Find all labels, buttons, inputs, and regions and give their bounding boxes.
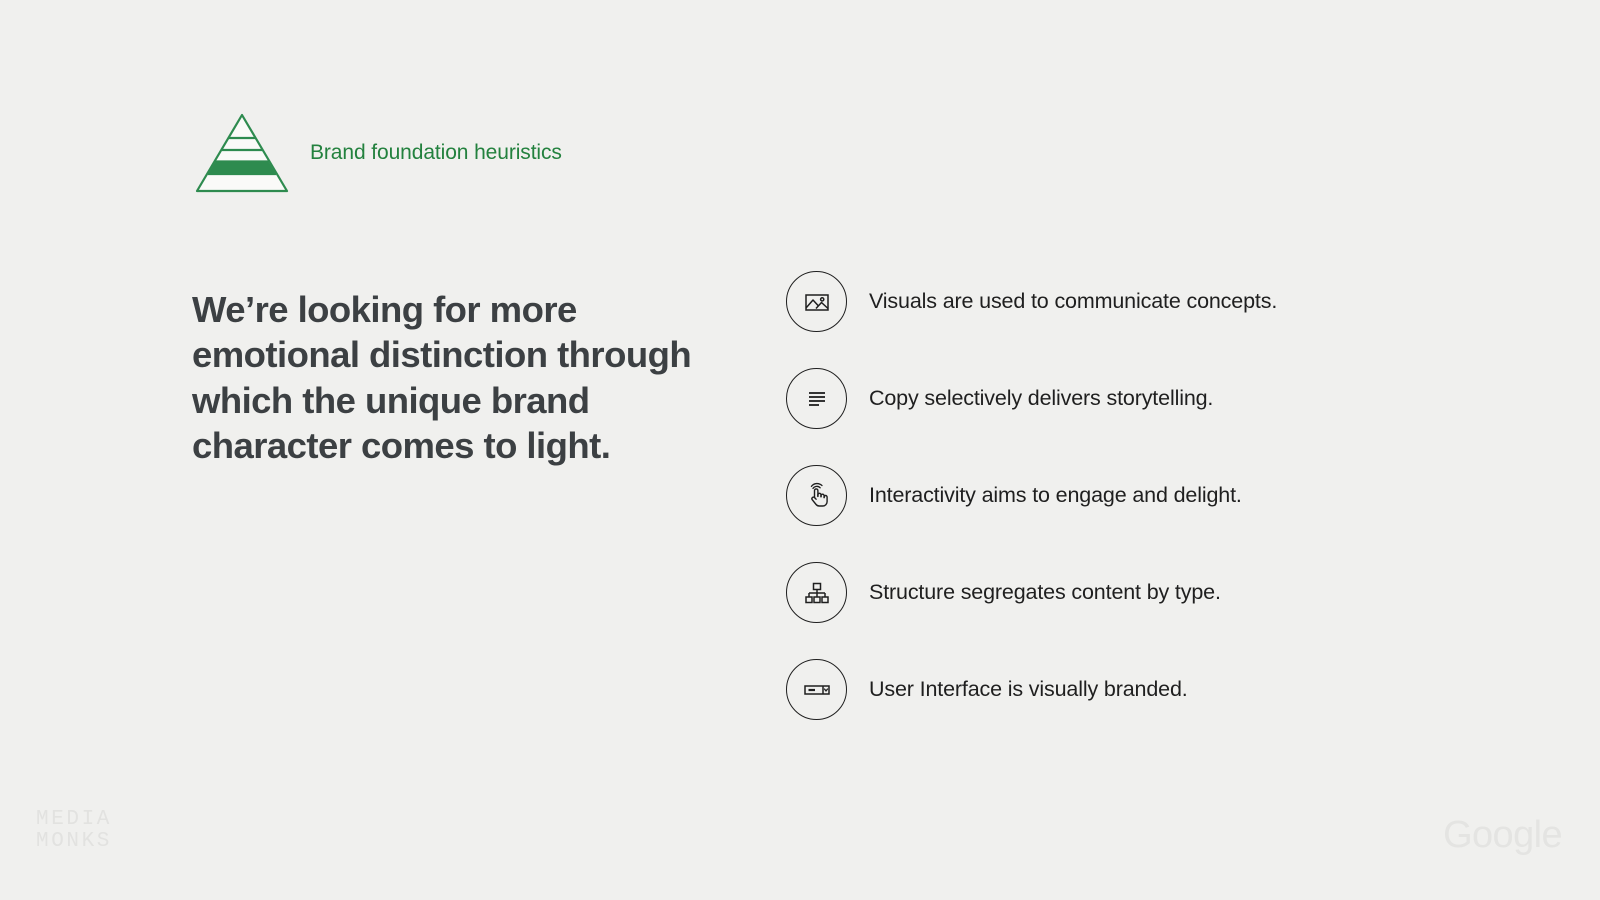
brandmark: Brand foundation heuristics [194,112,562,194]
slide-canvas: Brand foundation heuristics We’re lookin… [0,0,1600,900]
brandmark-label: Brand foundation heuristics [310,140,562,165]
list-item: Interactivity aims to engage and delight… [786,465,1277,526]
list-item-label: Interactivity aims to engage and delight… [869,482,1242,509]
list-item: Copy selectively delivers storytelling. [786,368,1277,429]
pyramid-icon [194,112,290,194]
mediamonks-logo-line1: MEDIA [36,809,112,832]
google-logo: Google [1443,816,1562,854]
page-title: We’re looking for more emotional distinc… [192,287,692,468]
sitemap-hierarchy-icon [786,562,847,623]
list-item: User Interface is visually branded. [786,659,1277,720]
list-item-label: Visuals are used to communicate concepts… [869,288,1277,315]
list-item: Structure segregates content by type. [786,562,1277,623]
tap-gesture-icon [786,465,847,526]
list-item: Visuals are used to communicate concepts… [786,271,1277,332]
list-item-label: User Interface is visually branded. [869,676,1188,703]
ui-input-dropdown-icon [786,659,847,720]
text-lines-icon [786,368,847,429]
heuristics-list: Visuals are used to communicate concepts… [786,271,1277,720]
image-icon [786,271,847,332]
list-item-label: Copy selectively delivers storytelling. [869,385,1213,412]
list-item-label: Structure segregates content by type. [869,579,1221,606]
mediamonks-logo-line2: MONKS [36,831,112,854]
mediamonks-logo: MEDIA MONKS [36,809,112,854]
